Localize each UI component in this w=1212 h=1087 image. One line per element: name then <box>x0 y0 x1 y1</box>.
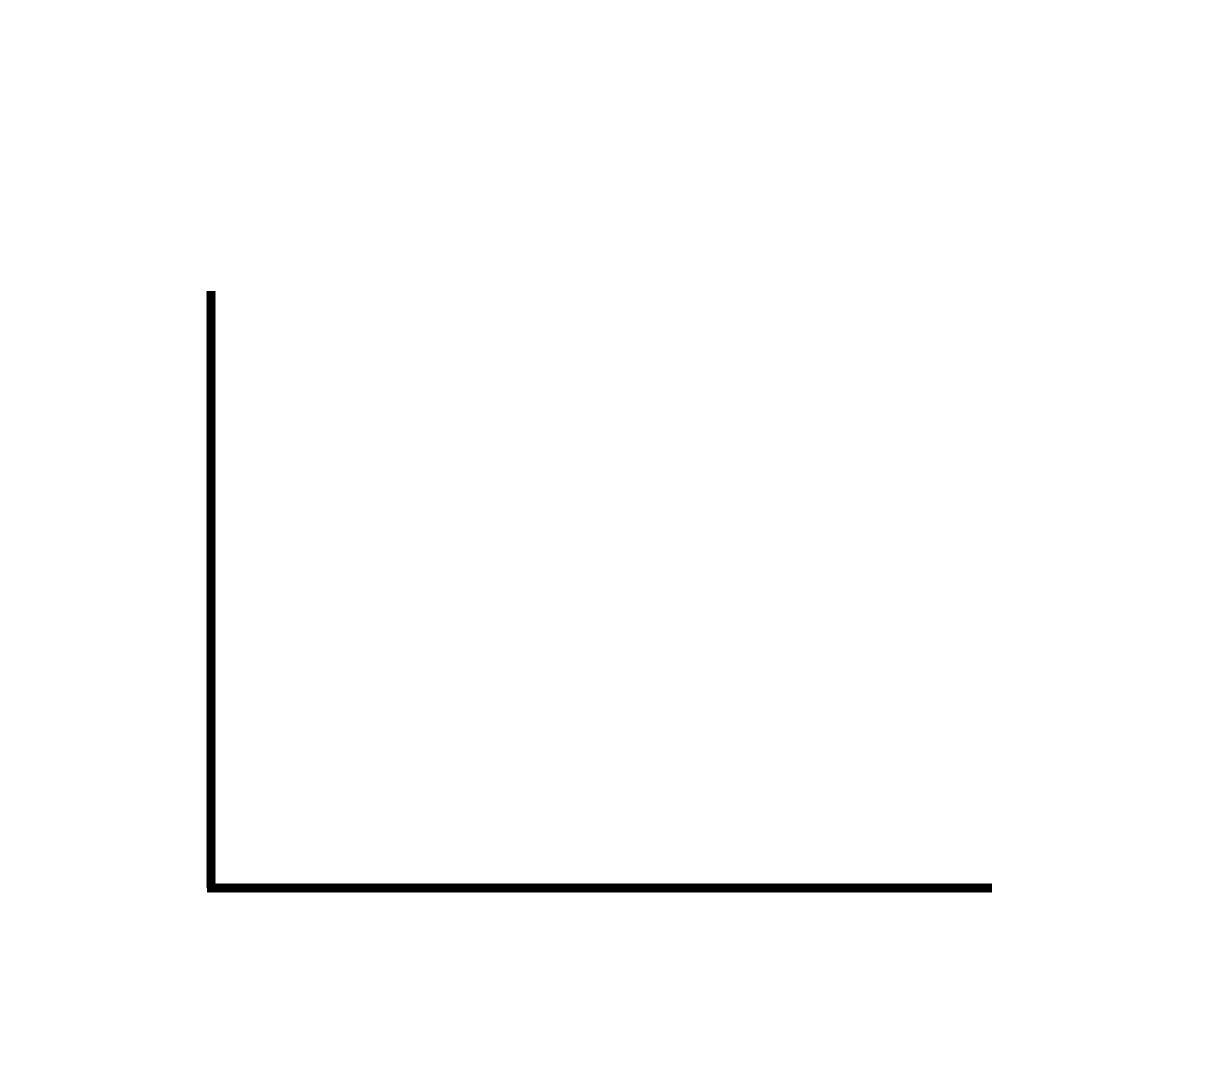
x-tick-label-group <box>0 915 1212 975</box>
axes-group <box>207 291 992 888</box>
plot-area <box>0 0 1212 1087</box>
elisa-chart-figure <box>0 0 1212 1087</box>
